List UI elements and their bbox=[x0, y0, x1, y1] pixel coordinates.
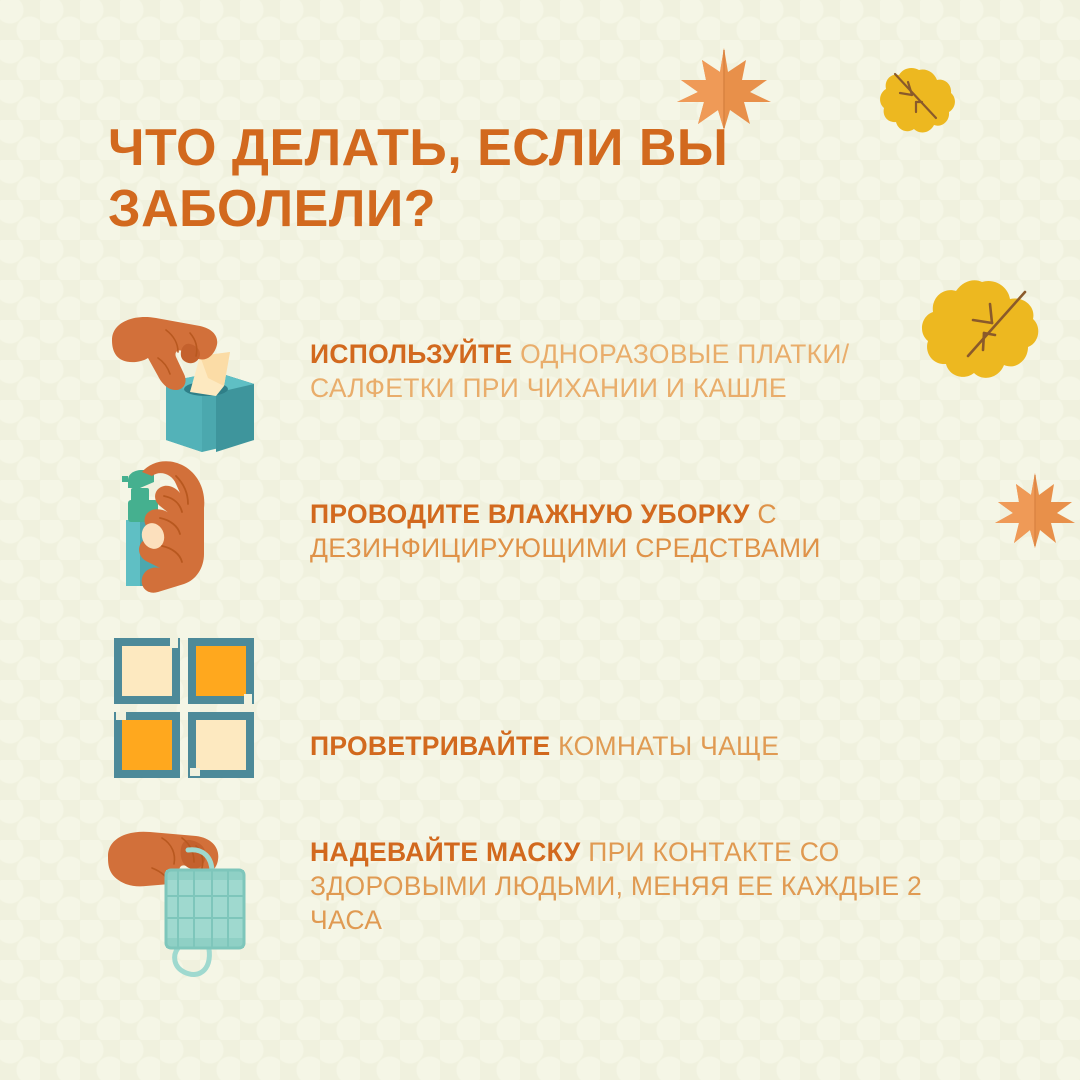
tip-row-mask: НАДЕВАЙТЕ МАСКУ ПРИ КОНТАКТЕ СО ЗДОРОВЫМ… bbox=[104, 818, 984, 978]
spray-bottle-hand-icon bbox=[104, 450, 284, 610]
tip-lead-mask: НАДЕВАЙТЕ МАСКУ bbox=[310, 837, 581, 867]
tip-rest-ventilation: КОМНАТЫ ЧАЩЕ bbox=[550, 731, 779, 761]
tip-row-tissues: ИСПОЛЬЗУЙТЕ ОДНОРАЗОВЫЕ ПЛАТКИ/САЛФЕТКИ … bbox=[104, 300, 984, 460]
window-grid-icon bbox=[104, 630, 284, 790]
tip-text-tissues: ИСПОЛЬЗУЙТЕ ОДНОРАЗОВЫЕ ПЛАТКИ/САЛФЕТКИ … bbox=[284, 300, 984, 406]
page-title: ЧТО ДЕЛАТЬ, ЕСЛИ ВЫ ЗАБОЛЕЛИ? bbox=[108, 118, 908, 241]
tip-row-cleaning: ПРОВОДИТЕ ВЛАЖНУЮ УБОРКУ С ДЕЗИНФИЦИРУЮЩ… bbox=[104, 450, 984, 610]
tip-text-ventilation: ПРОВЕТРИВАЙТЕ КОМНАТЫ ЧАЩЕ bbox=[284, 630, 984, 764]
face-mask-hand-icon bbox=[104, 818, 284, 978]
maple-leaf-orange-right-icon bbox=[992, 468, 1078, 552]
tissue-box-hand-icon bbox=[104, 300, 284, 460]
tip-text-cleaning: ПРОВОДИТЕ ВЛАЖНУЮ УБОРКУ С ДЕЗИНФИЦИРУЮЩ… bbox=[284, 450, 984, 566]
infographic-poster: ЧТО ДЕЛАТЬ, ЕСЛИ ВЫ ЗАБОЛЕЛИ? bbox=[0, 0, 1080, 1080]
tip-row-ventilation: ПРОВЕТРИВАЙТЕ КОМНАТЫ ЧАЩЕ bbox=[104, 630, 984, 790]
tip-lead-cleaning: ПРОВОДИТЕ ВЛАЖНУЮ УБОРКУ bbox=[310, 499, 750, 529]
tip-text-mask: НАДЕВАЙТЕ МАСКУ ПРИ КОНТАКТЕ СО ЗДОРОВЫМ… bbox=[284, 818, 984, 938]
tip-lead-tissues: ИСПОЛЬЗУЙТЕ bbox=[310, 339, 512, 369]
tip-lead-ventilation: ПРОВЕТРИВАЙТЕ bbox=[310, 731, 550, 761]
